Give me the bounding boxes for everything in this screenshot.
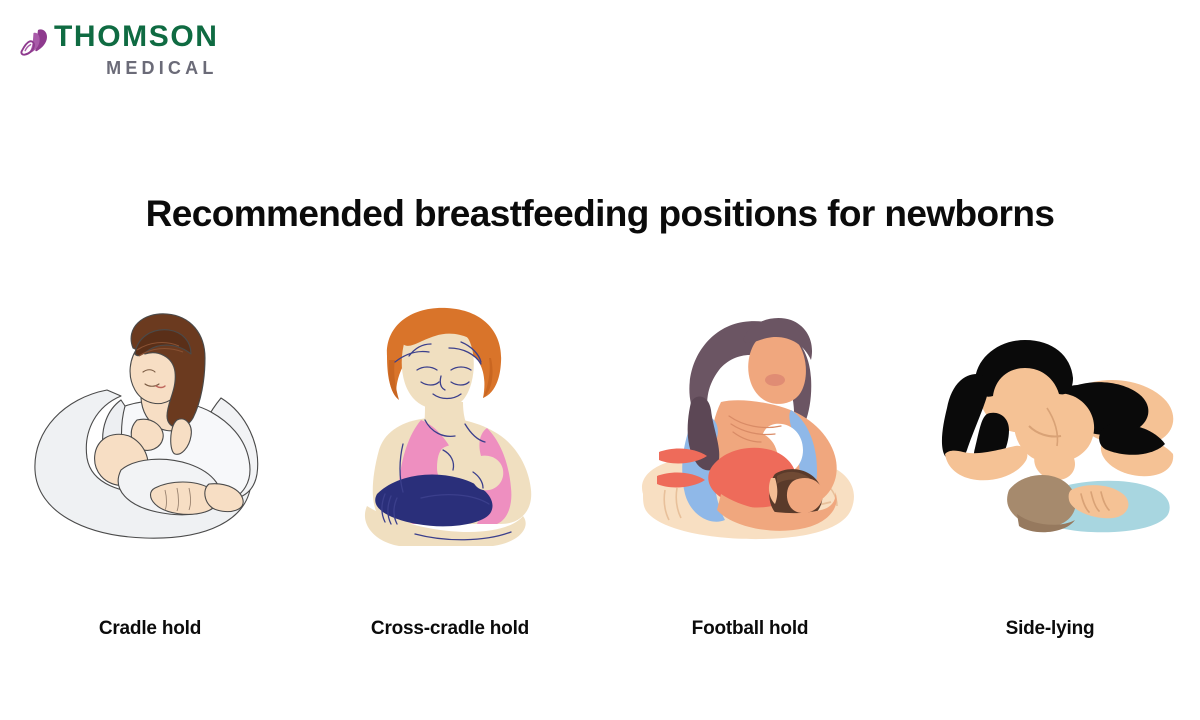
brand-subtitle: MEDICAL	[106, 59, 217, 77]
mother-cross-cradle-hold-illustration	[325, 298, 575, 548]
brand-logo: THOMSON MEDICAL	[18, 22, 219, 77]
brand-wordmark: THOMSON MEDICAL	[54, 22, 219, 77]
butterfly-icon	[18, 26, 52, 66]
mother-cradle-hold-illustration	[25, 298, 275, 548]
position-card-cross-cradle-hold: Cross-cradle hold	[315, 290, 585, 640]
position-label: Football hold	[692, 618, 809, 640]
position-label: Cross-cradle hold	[371, 618, 529, 640]
mother-side-lying-illustration	[925, 298, 1175, 548]
position-card-side-lying: Side-lying	[915, 290, 1185, 640]
position-label: Cradle hold	[99, 618, 201, 640]
position-label: Side-lying	[1006, 618, 1095, 640]
page-title: Recommended breastfeeding positions for …	[0, 193, 1200, 235]
positions-row: Cradle hold	[0, 280, 1200, 640]
brand-name: THOMSON	[54, 22, 219, 52]
mother-football-hold-illustration	[625, 298, 875, 548]
position-card-football-hold: Football hold	[615, 290, 885, 640]
position-card-cradle-hold: Cradle hold	[15, 290, 285, 640]
